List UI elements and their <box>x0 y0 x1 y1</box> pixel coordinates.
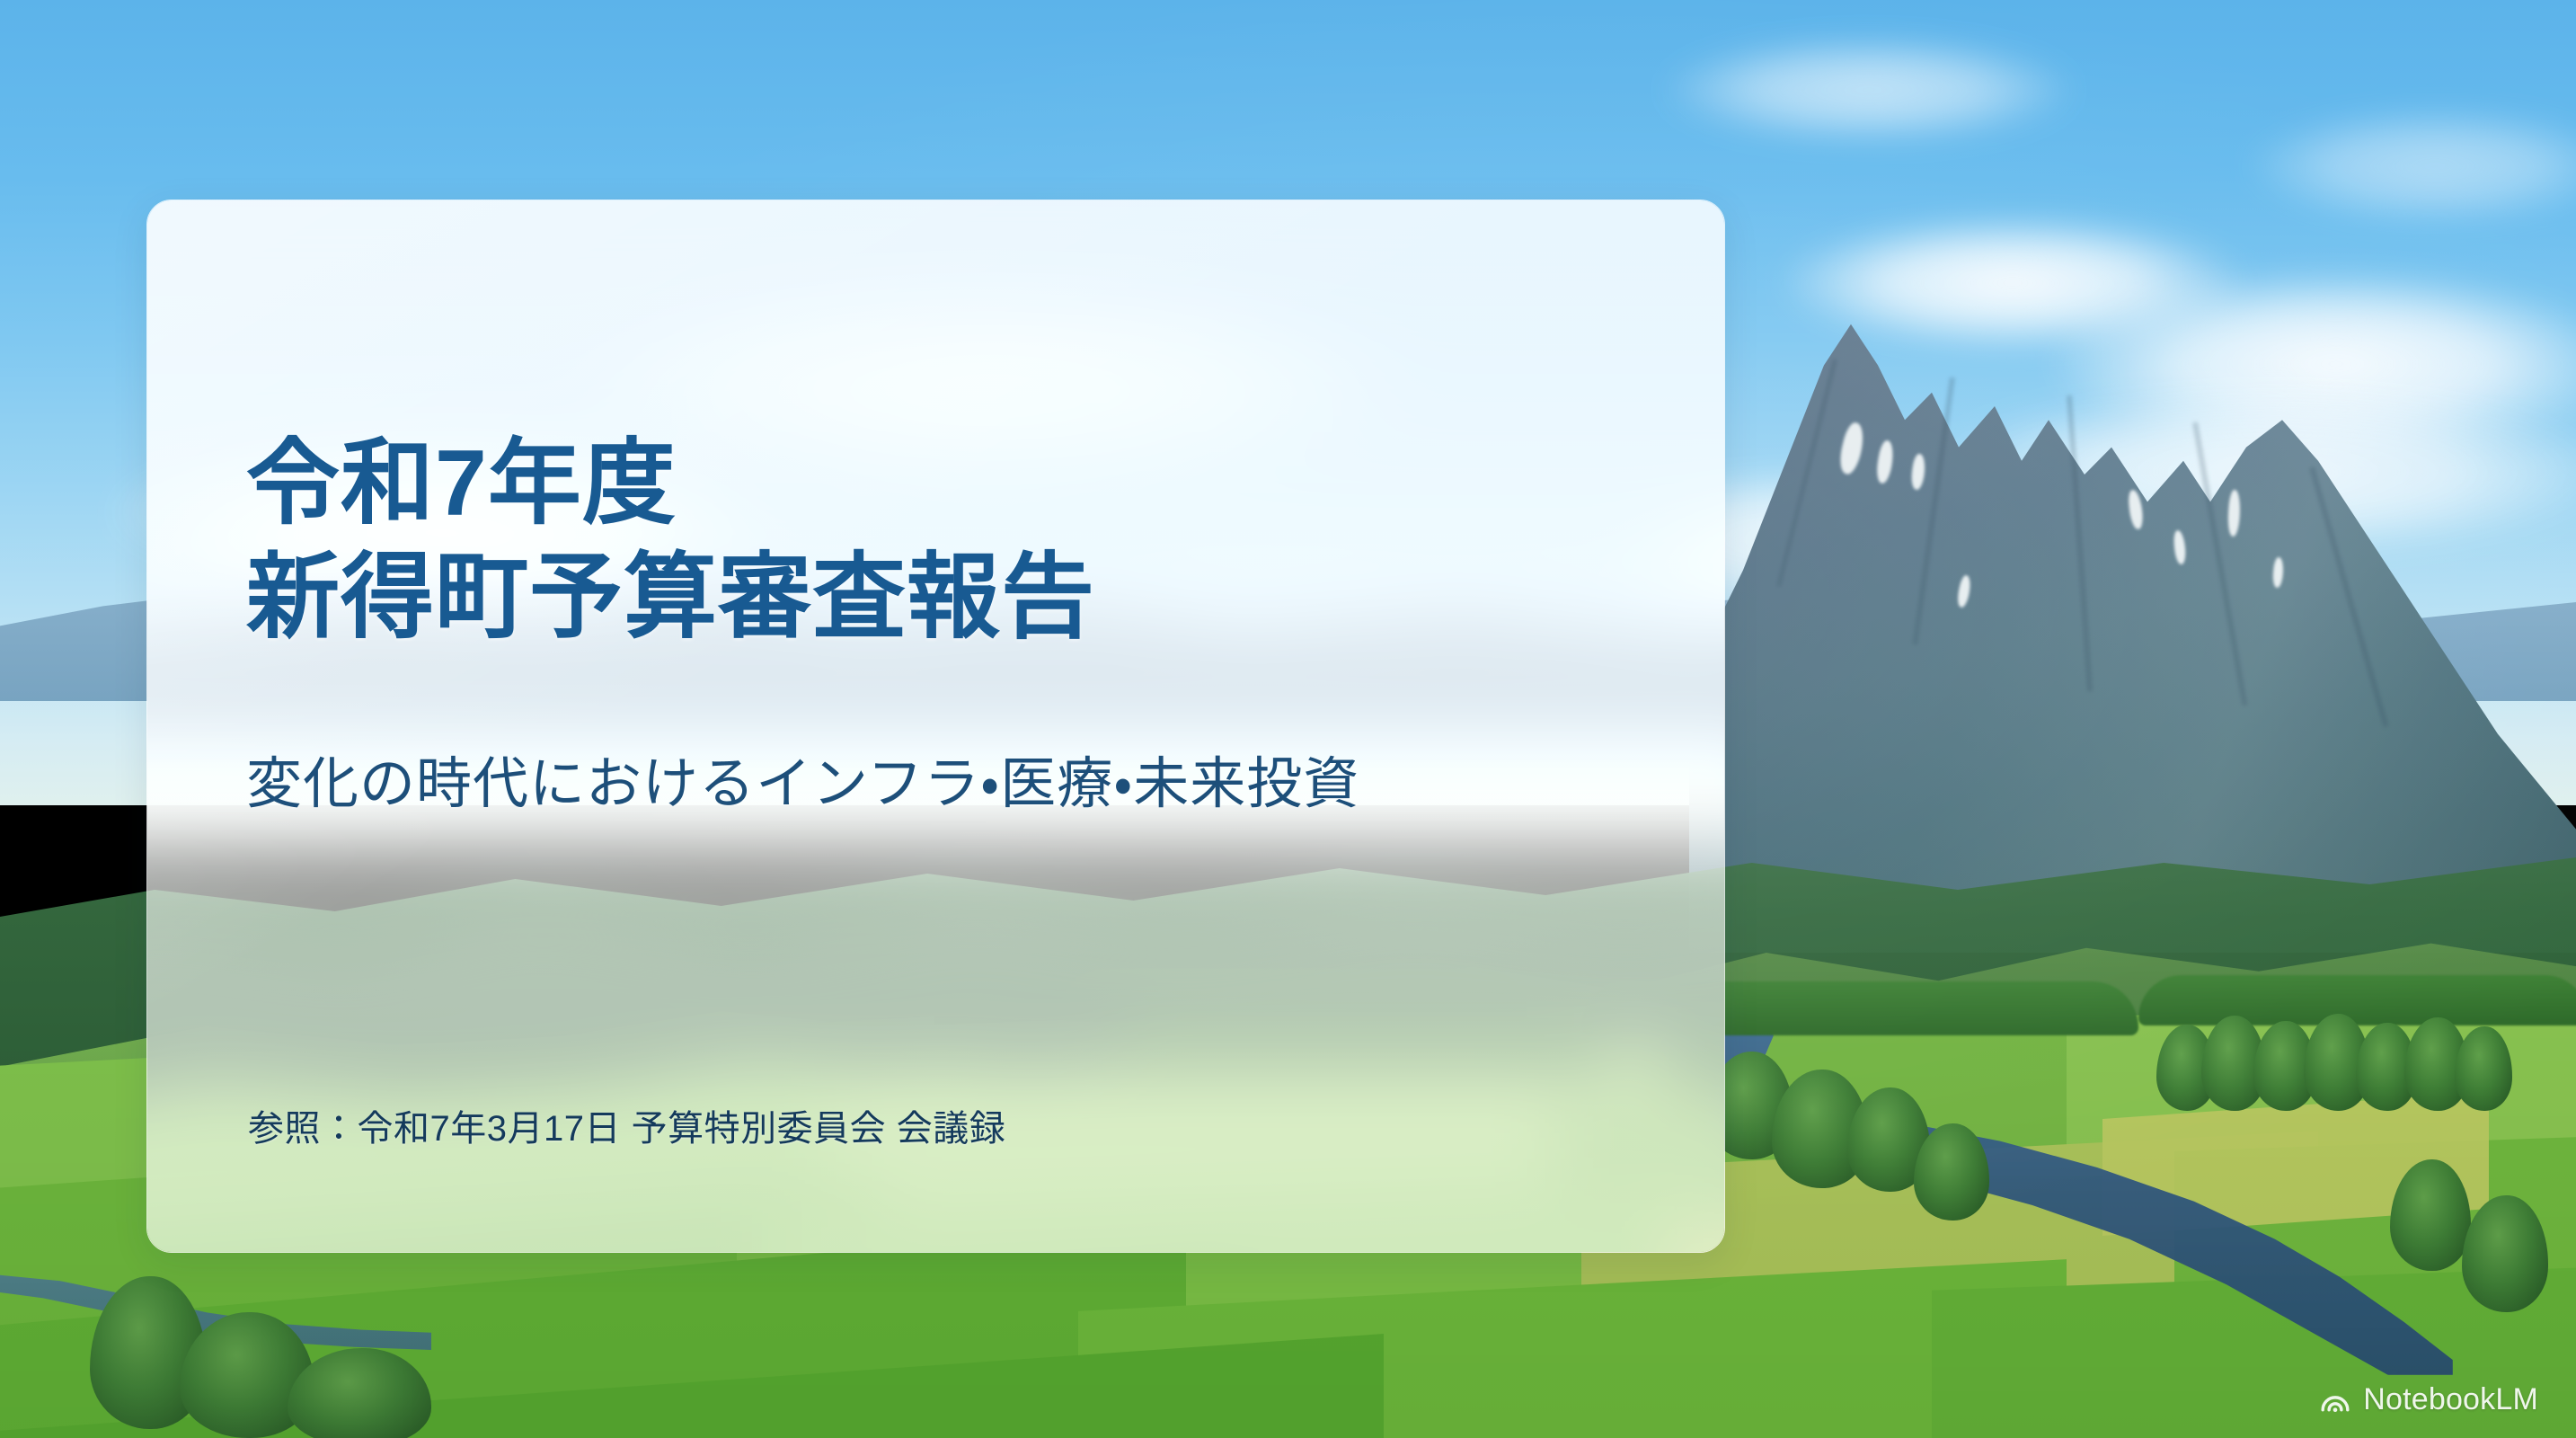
tree-line <box>2138 975 2576 1025</box>
tree <box>2455 1026 2512 1111</box>
page-subtitle: 変化の時代におけるインフラ・医療・未来投資 <box>246 749 1359 821</box>
notebooklm-label: NotebookLM <box>2363 1384 2538 1415</box>
title-card: 令和7年度 新得町予算審査報告 変化の時代におけるインフラ・医療・未来投資 参照… <box>146 200 1725 1253</box>
notebooklm-logo-icon <box>2320 1384 2350 1415</box>
source-reference: 参照：令和7年3月17日 予算特別委員会 会議録 <box>248 1099 1005 1151</box>
notebooklm-watermark: NotebookLM <box>2320 1384 2538 1415</box>
card-content: 令和7年度 新得町予算審査報告 変化の時代におけるインフラ・医療・未来投資 参照… <box>147 200 1724 1252</box>
title-line-2: 新得町予算審査報告 <box>246 541 1648 655</box>
title-line-1: 令和7年度 <box>246 427 1648 541</box>
page-title: 令和7年度 新得町予算審査報告 <box>246 427 1648 655</box>
title-slide: 令和7年度 新得町予算審査報告 変化の時代におけるインフラ・医療・未来投資 参照… <box>0 0 2576 1438</box>
